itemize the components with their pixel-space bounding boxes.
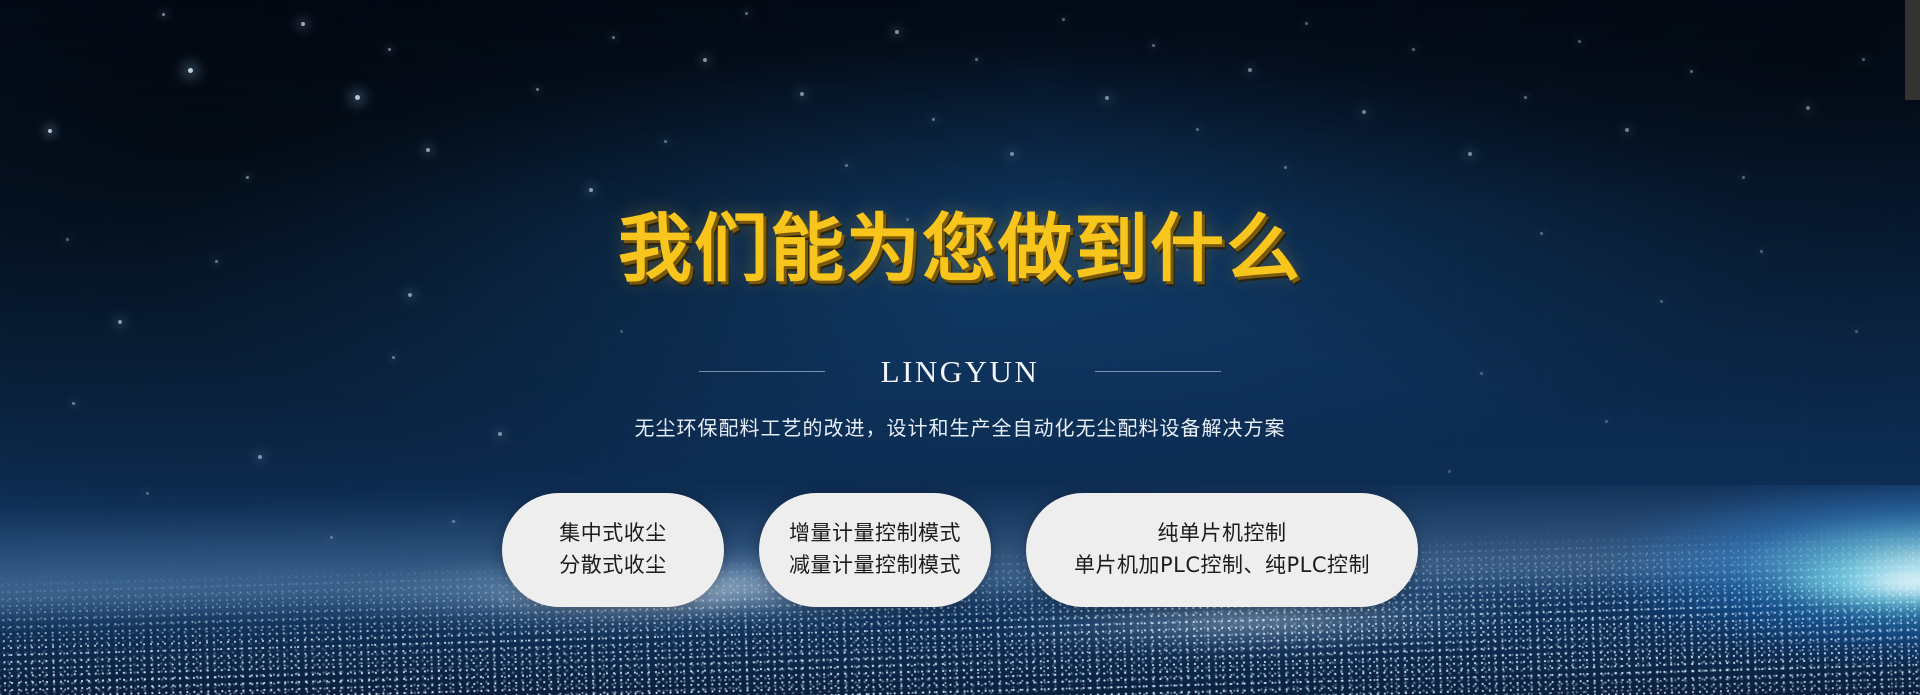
- feature-card-line-1: 增量计量控制模式: [789, 523, 961, 544]
- feature-card-line-2: 减量计量控制模式: [789, 555, 961, 576]
- banner-subtitle-en: LINGYUN: [881, 354, 1040, 390]
- feature-card-line-2: 单片机加PLC控制、纯PLC控制: [1074, 555, 1370, 576]
- banner-description: 无尘环保配料工艺的改进，设计和生产全自动化无尘配料设备解决方案: [635, 412, 1286, 441]
- banner-content: 我们能为您做到什么 LINGYUN 无尘环保配料工艺的改进，设计和生产全自动化无…: [0, 0, 1920, 695]
- feature-card-list: 集中式收尘 分散式收尘 增量计量控制模式 减量计量控制模式 纯单片机控制 单片机…: [502, 493, 1418, 607]
- feature-card-line-1: 集中式收尘: [559, 523, 667, 544]
- feature-card-line-1: 纯单片机控制: [1158, 523, 1287, 544]
- scrollbar-thumb[interactable]: [1905, 0, 1920, 100]
- feature-card-metering-mode[interactable]: 增量计量控制模式 减量计量控制模式: [759, 493, 991, 607]
- feature-card-line-2: 分散式收尘: [559, 555, 667, 576]
- banner-subtitle-row: LINGYUN: [699, 354, 1222, 390]
- subtitle-rule-right: [1095, 371, 1221, 372]
- feature-card-dust-collection[interactable]: 集中式收尘 分散式收尘: [502, 493, 724, 607]
- banner-headline: 我们能为您做到什么: [618, 212, 1302, 286]
- hero-banner: 我们能为您做到什么 LINGYUN 无尘环保配料工艺的改进，设计和生产全自动化无…: [0, 0, 1920, 695]
- feature-card-control-system[interactable]: 纯单片机控制 单片机加PLC控制、纯PLC控制: [1026, 493, 1418, 607]
- subtitle-rule-left: [699, 371, 825, 372]
- page-scrollbar[interactable]: [1905, 0, 1920, 695]
